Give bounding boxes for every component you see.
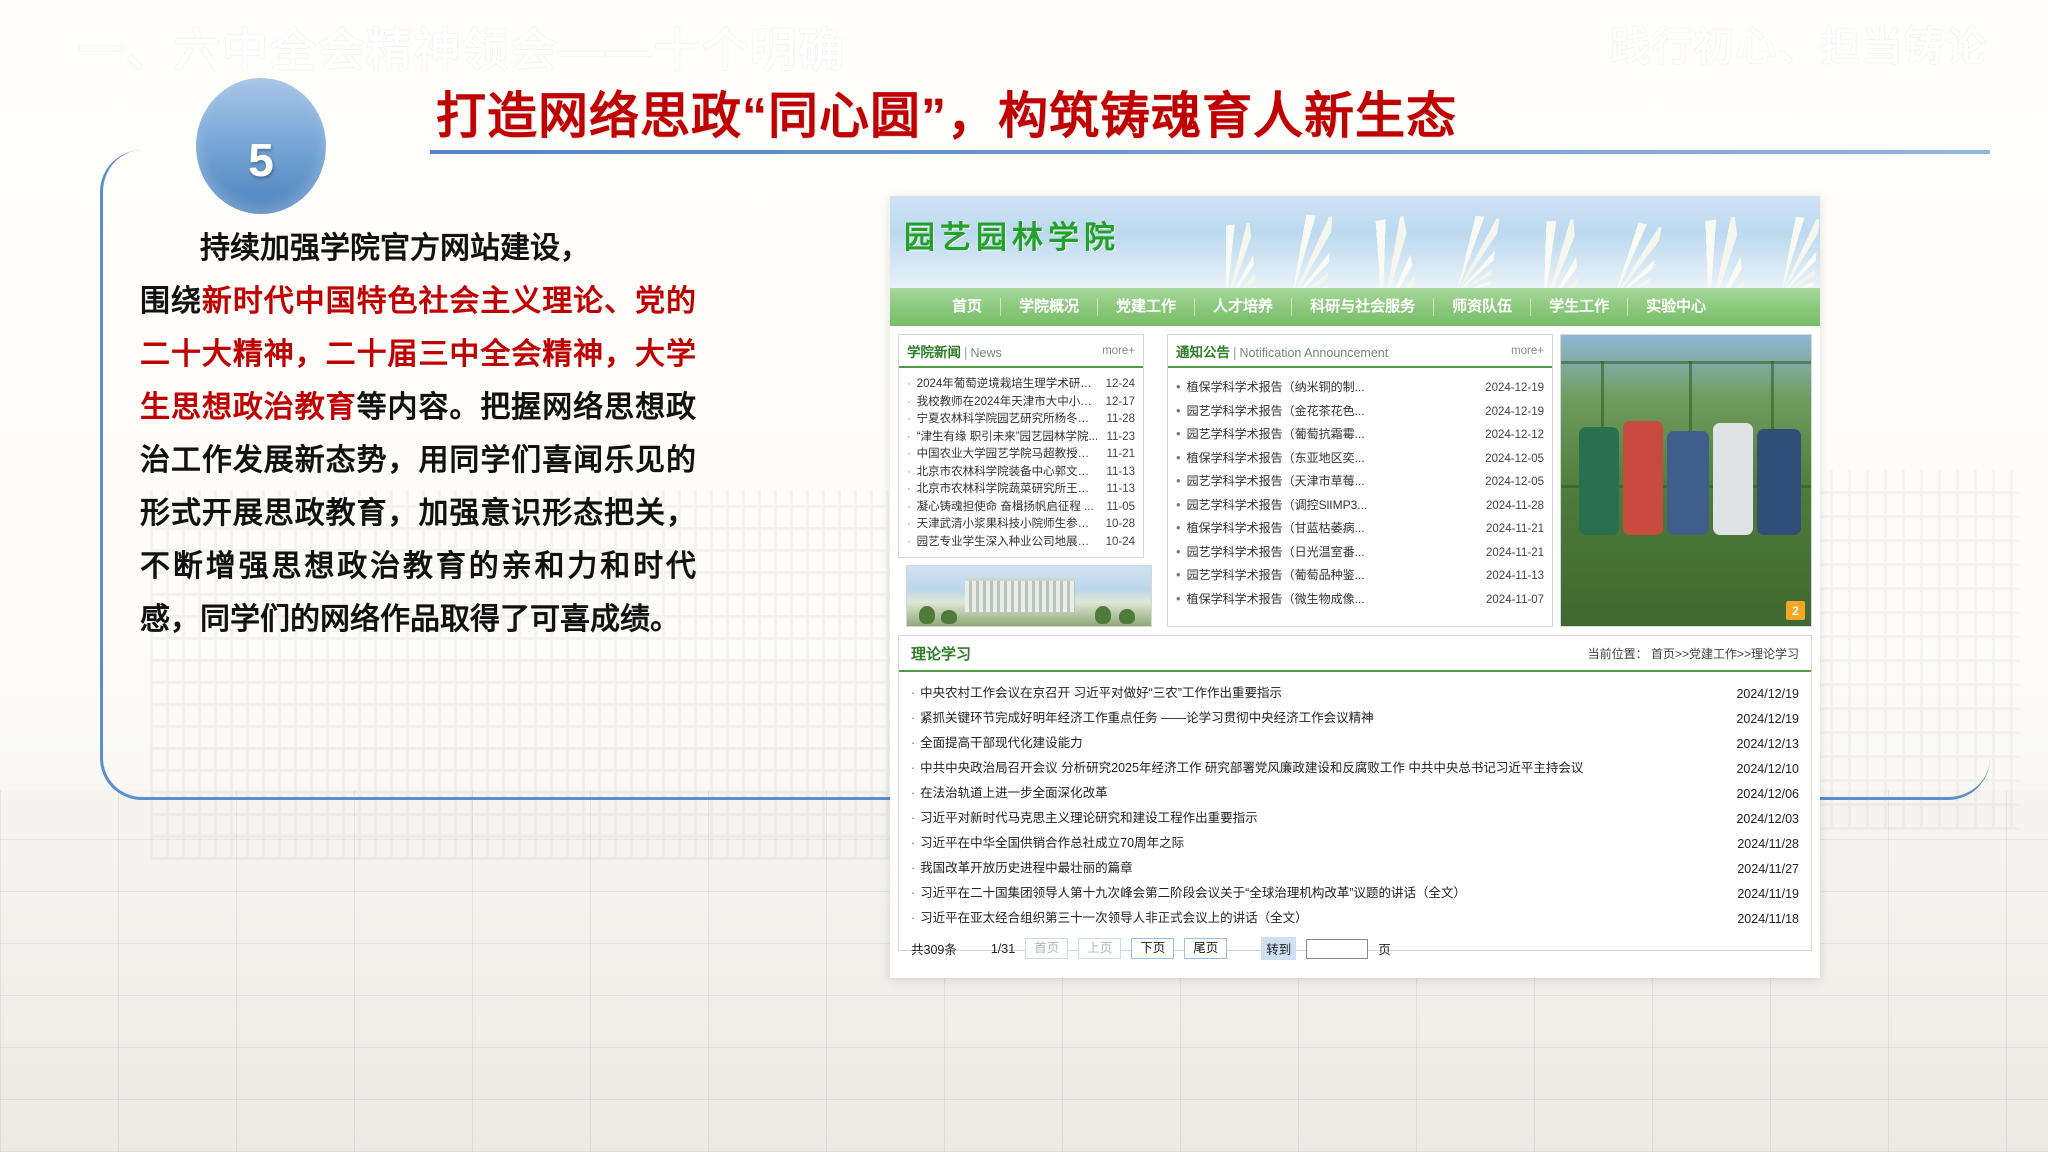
nav-item-home[interactable]: 首页 <box>934 298 1001 316</box>
list-bullet-icon: • <box>1176 541 1181 563</box>
first-page-button[interactable]: 首页 <box>1025 938 1068 959</box>
list-item-title[interactable]: 紧抓关键环节完成好明年经济工作重点任务 ——论学习贯彻中央经济工作会议精神 <box>920 709 1716 728</box>
college-website-screenshot: 园艺园林学院 首页 学院概况 党建工作 人才培养 科研与社会服务 师资队伍 学生… <box>890 196 1820 978</box>
next-page-button[interactable]: 下页 <box>1131 938 1174 959</box>
background-heading-right: 践行初心、担当铸论 <box>1610 14 1988 72</box>
list-item-title[interactable]: 园艺学科学术报告（天津市草莓... <box>1187 471 1480 493</box>
notice-list-item[interactable]: •植保学科学术报告（东亚地区奕...2024-12-05 <box>1176 447 1544 471</box>
list-item-date: 2024/12/19 <box>1721 684 1799 704</box>
list-item-date: 11-23 <box>1106 429 1135 447</box>
list-item-date: 2024-11-28 <box>1486 496 1544 518</box>
notice-list-item[interactable]: •园艺学科学术报告（葡萄品种鉴...2024-11-13 <box>1176 564 1544 588</box>
list-item-date: 12-24 <box>1106 376 1135 394</box>
paragraph-line-2-prefix: 围绕 <box>140 285 202 318</box>
list-item-title[interactable]: 植保学科学术报告（微生物成像... <box>1187 589 1480 611</box>
notice-list-item[interactable]: •植保学科学术报告（甘蓝枯萎病...2024-11-21 <box>1176 517 1544 541</box>
list-item-date: 2024-12-05 <box>1485 472 1544 494</box>
list-item-title[interactable]: 植保学科学术报告（甘蓝枯萎病... <box>1187 518 1480 540</box>
theory-study-title: 理论学习 <box>911 643 971 664</box>
news-title-cn: 学院新闻 <box>907 345 961 360</box>
list-bullet-icon: · <box>911 759 915 778</box>
notice-list-item[interactable]: •园艺学科学术报告（葡萄抗霜霉...2024-12-12 <box>1176 423 1544 447</box>
theory-list-item[interactable]: ·习近平在二十国集团领导人第十九次峰会第二阶段会议关于“全球治理机构改革”议题的… <box>911 881 1799 906</box>
news-list-item[interactable]: ·“津生有缘 职引未来”园艺园林学院...11-23 <box>907 429 1135 447</box>
list-item-title[interactable]: 北京市农林科学院蔬菜研究所王桂香... <box>917 481 1101 499</box>
goto-page-input[interactable] <box>1306 939 1368 959</box>
notice-list-item[interactable]: •园艺学科学术报告（日光温室番...2024-11-21 <box>1176 541 1544 565</box>
slide-number-label: 5 <box>248 133 274 187</box>
list-item-title[interactable]: 中央农村工作会议在京召开 习近平对做好“三农”工作作出重要指示 <box>920 684 1716 703</box>
notice-more-link[interactable]: more+ <box>1511 345 1544 357</box>
list-item-date: 2024/12/19 <box>1721 709 1799 729</box>
theory-list-item[interactable]: ·中央农村工作会议在京召开 习近平对做好“三农”工作作出重要指示2024/12/… <box>911 681 1799 706</box>
list-bullet-icon: · <box>907 376 911 394</box>
nav-item-talent[interactable]: 人才培养 <box>1195 298 1292 316</box>
list-item-title[interactable]: 园艺学科学术报告（调控SlIMP3... <box>1187 495 1480 517</box>
news-list-item[interactable]: ·园艺专业学生深入种业公司地展园参...10-24 <box>907 534 1135 552</box>
list-item-date: 11-05 <box>1106 499 1135 517</box>
list-item-title[interactable]: 园艺专业学生深入种业公司地展园参... <box>917 534 1100 552</box>
list-item-date: 2024-11-07 <box>1486 590 1544 612</box>
list-bullet-icon: · <box>911 909 915 928</box>
list-bullet-icon: · <box>911 809 915 828</box>
notice-title-cn: 通知公告 <box>1176 345 1230 360</box>
site-top-columns: 学院新闻|News more+ ·2024年葡萄逆境栽培生理学术研讨会...12… <box>890 326 1820 627</box>
paragraph-line-1: 持续加强学院官方网站建设， <box>140 222 696 275</box>
site-navigation[interactable]: 首页 学院概况 党建工作 人才培养 科研与社会服务 师资队伍 学生工作 实验中心 <box>890 288 1820 326</box>
list-bullet-icon: · <box>911 884 915 903</box>
title-underline <box>430 150 1990 154</box>
list-item-date: 2024/11/18 <box>1721 909 1799 929</box>
news-card-header: 学院新闻|News more+ <box>899 335 1143 368</box>
notice-list-item[interactable]: •园艺学科学术报告（金花茶花色...2024-12-19 <box>1176 400 1544 424</box>
list-item-date: 11-13 <box>1106 481 1135 499</box>
theory-list-item[interactable]: ·紧抓关键环节完成好明年经济工作重点任务 ——论学习贯彻中央经济工作会议精神20… <box>911 706 1799 731</box>
list-item-date: 2024/12/13 <box>1721 734 1799 754</box>
list-item-date: 10-28 <box>1106 516 1135 534</box>
list-item-date: 2024-12-19 <box>1485 378 1544 400</box>
notice-title-separator: | <box>1230 345 1240 360</box>
list-item-title[interactable]: 天津武清小浆果科技小院师生参加农... <box>917 516 1100 534</box>
list-bullet-icon: • <box>1176 447 1181 469</box>
list-bullet-icon: • <box>1176 517 1181 539</box>
nav-item-lab-center[interactable]: 实验中心 <box>1628 298 1724 316</box>
news-list-item[interactable]: ·凝心铸魂担使命 奋楫扬帆启征程 ...11-05 <box>907 499 1135 517</box>
site-logo: 园艺园林学院 <box>904 212 1120 257</box>
theory-study-header: 理论学习 当前位置： 首页>>党建工作>>理论学习 <box>899 636 1811 672</box>
nav-item-research[interactable]: 科研与社会服务 <box>1292 298 1434 316</box>
theory-study-list: ·中央农村工作会议在京召开 习近平对做好“三农”工作作出重要指示2024/12/… <box>899 672 1811 931</box>
news-list-item[interactable]: ·中国农业大学园艺学院马超教授到园...11-21 <box>907 446 1135 464</box>
news-list-item[interactable]: ·北京市农林科学院蔬菜研究所王桂香...11-13 <box>907 481 1135 499</box>
total-count-label: 共309条 <box>911 939 957 958</box>
news-list-item[interactable]: ·北京市农林科学院装备中心郭文忠研...11-13 <box>907 464 1135 482</box>
nav-item-party-work[interactable]: 党建工作 <box>1098 298 1195 316</box>
news-more-link[interactable]: more+ <box>1102 345 1135 357</box>
list-bullet-icon: • <box>1176 564 1181 586</box>
list-item-date: 11-28 <box>1106 411 1135 429</box>
list-bullet-icon: • <box>1176 376 1181 398</box>
list-item-date: 2024/11/28 <box>1721 834 1799 854</box>
theory-list-item[interactable]: ·我国改革开放历史进程中最壮丽的篇章2024/11/27 <box>911 856 1799 881</box>
news-title-separator: | <box>961 345 971 360</box>
list-bullet-icon: · <box>907 394 911 412</box>
notice-list-item[interactable]: •植保学科学术报告（纳米铜的制...2024-12-19 <box>1176 376 1544 400</box>
notice-card: 通知公告|Notification Announcement more+ •植保… <box>1167 334 1553 627</box>
notice-list-item[interactable]: •植保学科学术报告（微生物成像...2024-11-07 <box>1176 588 1544 612</box>
list-item-title[interactable]: 园艺学科学术报告（葡萄品种鉴... <box>1187 565 1480 587</box>
notice-list-item[interactable]: •园艺学科学术报告（天津市草莓...2024-12-05 <box>1176 470 1544 494</box>
list-bullet-icon: • <box>1176 400 1181 422</box>
list-item-date: 12-17 <box>1106 394 1135 412</box>
list-bullet-icon: · <box>911 684 915 703</box>
list-item-title[interactable]: 习近平在二十国集团领导人第十九次峰会第二阶段会议关于“全球治理机构改革”议题的讲… <box>920 884 1716 903</box>
goto-page-label: 转到 <box>1261 937 1296 960</box>
notice-card-header: 通知公告|Notification Announcement more+ <box>1168 335 1552 368</box>
notice-list: •植保学科学术报告（纳米铜的制...2024-12-19•园艺学科学术报告（金花… <box>1168 368 1552 617</box>
prev-page-button[interactable]: 上页 <box>1078 938 1121 959</box>
last-page-button[interactable]: 尾页 <box>1184 938 1227 959</box>
list-bullet-icon: · <box>911 734 915 753</box>
breadcrumb: 当前位置： 首页>>党建工作>>理论学习 <box>1588 645 1799 662</box>
list-item-date: 2024/12/06 <box>1721 784 1799 804</box>
list-bullet-icon: · <box>911 709 915 728</box>
list-item-date: 2024/11/27 <box>1721 859 1799 879</box>
news-title-en: News <box>971 346 1002 360</box>
list-item-date: 10-24 <box>1106 534 1135 552</box>
list-item-date: 2024-11-13 <box>1486 566 1544 588</box>
list-item-title[interactable]: 植保学科学术报告（东亚地区奕... <box>1187 448 1480 470</box>
list-item-date: 2024-12-05 <box>1485 449 1544 471</box>
pagination-bar[interactable]: 共309条 1/31 首页 上页 下页 尾页 转到 页 <box>899 931 1811 969</box>
nav-item-overview[interactable]: 学院概况 <box>1001 298 1098 316</box>
list-item-title[interactable]: 习近平在亚太经合组织第三十一次领导人非正式会议上的讲话（全文） <box>920 909 1716 928</box>
list-item-title[interactable]: 北京市农林科学院装备中心郭文忠研... <box>917 464 1101 482</box>
list-bullet-icon: · <box>907 464 911 482</box>
goto-page-suffix: 页 <box>1378 939 1391 958</box>
list-item-date: 11-13 <box>1106 464 1135 482</box>
page-indicator: 1/31 <box>991 942 1015 956</box>
campus-photo-thumbnail[interactable] <box>906 565 1152 627</box>
site-banner: 园艺园林学院 <box>890 196 1820 288</box>
list-item-title[interactable]: 我国改革开放历史进程中最壮丽的篇章 <box>920 859 1716 878</box>
theory-list-item[interactable]: ·中共中央政治局召开会议 分析研究2025年经济工作 研究部署党风廉政建设和反腐… <box>911 756 1799 781</box>
field-photo[interactable]: 2 <box>1560 334 1812 627</box>
list-item-title[interactable]: 我校教师在2024年天津市大中小学 “... <box>917 394 1100 412</box>
list-bullet-icon: • <box>1176 494 1181 516</box>
news-list-item[interactable]: ·2024年葡萄逆境栽培生理学术研讨会...12-24 <box>907 376 1135 394</box>
list-item-title[interactable]: 宁夏农林科学院园艺研究所杨冬艳研... <box>917 411 1101 429</box>
list-bullet-icon: · <box>911 834 915 853</box>
theory-list-item[interactable]: ·全面提高干部现代化建设能力2024/12/13 <box>911 731 1799 756</box>
list-bullet-icon: · <box>907 481 911 499</box>
theory-list-item[interactable]: ·习近平对新时代马克思主义理论研究和建设工程作出重要指示2024/12/03 <box>911 806 1799 831</box>
list-item-title[interactable]: 2024年葡萄逆境栽培生理学术研讨会... <box>917 376 1100 394</box>
list-bullet-icon: · <box>907 446 911 464</box>
nav-item-student[interactable]: 学生工作 <box>1531 298 1628 316</box>
list-item-title[interactable]: 园艺学科学术报告（葡萄抗霜霉... <box>1187 424 1480 446</box>
notice-list-item[interactable]: •园艺学科学术报告（调控SlIMP3...2024-11-28 <box>1176 494 1544 518</box>
list-item-title[interactable]: 习近平对新时代马克思主义理论研究和建设工程作出重要指示 <box>920 809 1716 828</box>
background-heading-left: 一、六中全会精神领会——十个明确 <box>78 14 846 80</box>
list-item-date: 2024-12-19 <box>1485 402 1544 424</box>
list-item-date: 2024/12/10 <box>1721 759 1799 779</box>
list-bullet-icon: · <box>907 499 911 517</box>
list-item-title[interactable]: 全面提高干部现代化建设能力 <box>920 734 1716 753</box>
slide-number-badge: 5 <box>196 78 326 214</box>
news-list-item[interactable]: ·宁夏农林科学院园艺研究所杨冬艳研...11-28 <box>907 411 1135 429</box>
list-item-date: 2024-12-12 <box>1485 425 1544 447</box>
theory-list-item[interactable]: ·习近平在中华全国供销合作总社成立70周年之际2024/11/28 <box>911 831 1799 856</box>
news-list: ·2024年葡萄逆境栽培生理学术研讨会...12-24·我校教师在2024年天津… <box>899 368 1143 557</box>
nav-item-faculty[interactable]: 师资队伍 <box>1434 298 1531 316</box>
list-bullet-icon: · <box>911 859 915 878</box>
list-bullet-icon: · <box>911 784 915 803</box>
list-bullet-icon: • <box>1176 423 1181 445</box>
news-list-item[interactable]: ·天津武清小浆果科技小院师生参加农...10-28 <box>907 516 1135 534</box>
paragraph-line-2-suffix: 等内容。 <box>357 391 481 424</box>
list-item-date: 2024/12/03 <box>1721 809 1799 829</box>
theory-list-item[interactable]: ·习近平在亚太经合组织第三十一次领导人非正式会议上的讲话（全文）2024/11/… <box>911 906 1799 931</box>
list-item-title[interactable]: 中国农业大学园艺学院马超教授到园... <box>917 446 1101 464</box>
photo-index-badge: 2 <box>1786 601 1805 620</box>
list-item-title[interactable]: 在法治轨道上进一步全面深化改革 <box>920 784 1716 803</box>
list-bullet-icon: • <box>1176 470 1181 492</box>
theory-study-section: 理论学习 当前位置： 首页>>党建工作>>理论学习 ·中央农村工作会议在京召开 … <box>898 635 1812 951</box>
list-item-date: 2024-11-21 <box>1486 543 1544 565</box>
list-item-date: 2024/11/19 <box>1721 884 1799 904</box>
news-list-item[interactable]: ·我校教师在2024年天津市大中小学 “...12-17 <box>907 394 1135 412</box>
list-bullet-icon: · <box>907 411 911 429</box>
list-item-title[interactable]: 中共中央政治局召开会议 分析研究2025年经济工作 研究部署党风廉政建设和反腐败… <box>920 759 1716 778</box>
list-bullet-icon: · <box>907 429 911 447</box>
list-item-title[interactable]: 习近平在中华全国供销合作总社成立70周年之际 <box>920 834 1716 853</box>
list-item-title[interactable]: 植保学科学术报告（纳米铜的制... <box>1187 377 1480 399</box>
list-item-title[interactable]: 园艺学科学术报告（日光温室番... <box>1187 542 1480 564</box>
news-card: 学院新闻|News more+ ·2024年葡萄逆境栽培生理学术研讨会...12… <box>898 334 1144 558</box>
list-bullet-icon: • <box>1176 588 1181 610</box>
list-item-title[interactable]: 凝心铸魂担使命 奋楫扬帆启征程 ... <box>917 499 1101 517</box>
page-title: 打造网络思政“同心圆”，构筑铸魂育人新生态 <box>436 76 1457 148</box>
list-bullet-icon: · <box>907 516 911 534</box>
list-item-title[interactable]: 园艺学科学术报告（金花茶花色... <box>1187 401 1480 423</box>
list-item-date: 2024-11-21 <box>1486 519 1544 541</box>
theory-list-item[interactable]: ·在法治轨道上进一步全面深化改革2024/12/06 <box>911 781 1799 806</box>
list-item-title[interactable]: “津生有缘 职引未来”园艺园林学院... <box>917 429 1101 447</box>
notice-title-en: Notification Announcement <box>1240 346 1389 360</box>
body-paragraph: 持续加强学院官方网站建设， 围绕新时代中国特色社会主义理论、党的二十大精神，二十… <box>140 222 696 646</box>
list-item-date: 11-21 <box>1106 446 1135 464</box>
list-bullet-icon: · <box>907 534 911 552</box>
paragraph-line-3: 把握网络思想政治工作发展新态势，用同学们喜闻乐见的形式开展思政教育，加强意识形态… <box>140 391 696 636</box>
